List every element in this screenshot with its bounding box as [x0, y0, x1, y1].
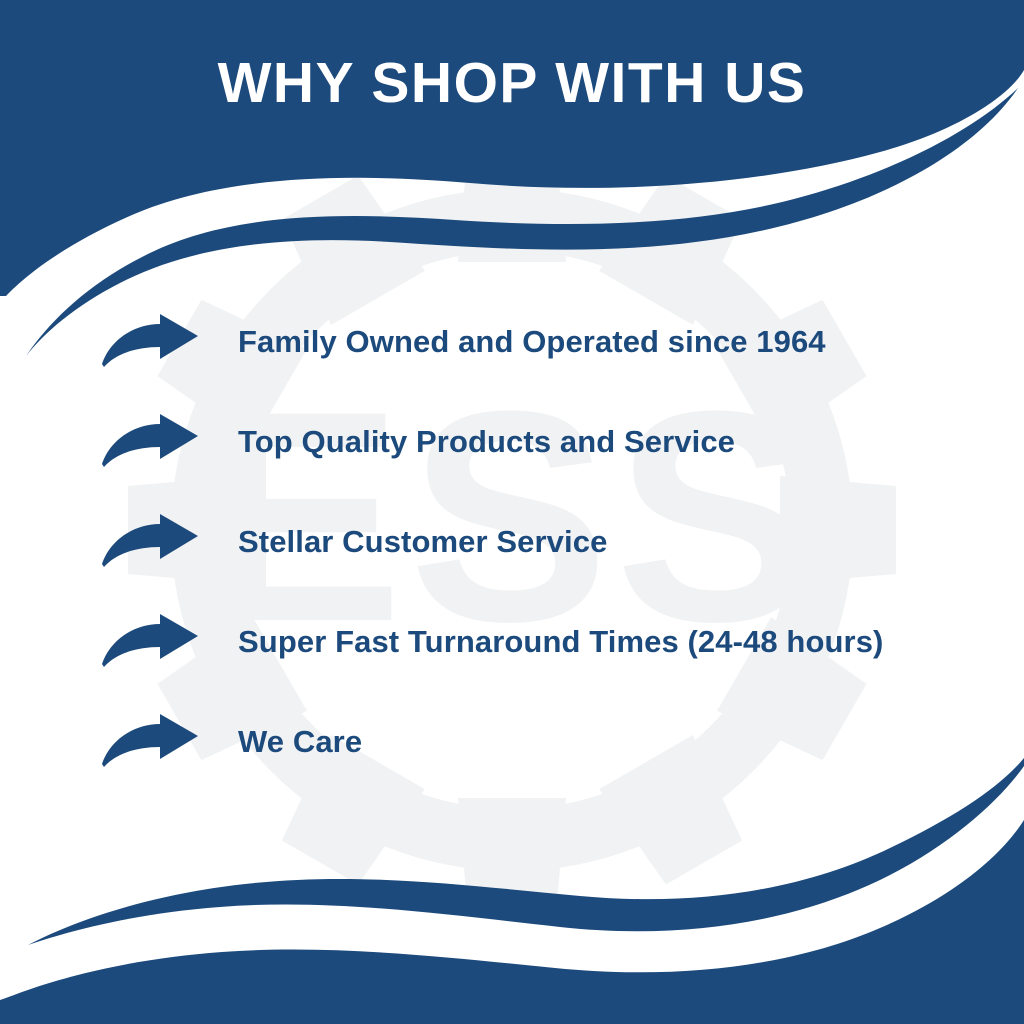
curved-arrow-right-icon [100, 314, 200, 370]
top-navy-band [0, 0, 1024, 296]
list-item: Top Quality Products and Service [100, 392, 1000, 492]
benefits-list: Family Owned and Operated since 1964 Top… [100, 292, 1000, 792]
curved-arrow-right-icon [100, 414, 200, 470]
list-item: We Care [100, 692, 1000, 792]
list-item-label: Top Quality Products and Service [238, 424, 1000, 460]
list-item: Super Fast Turnaround Times (24-48 hours… [100, 592, 1000, 692]
bottom-navy-band [0, 820, 1024, 1024]
curved-arrow-right-icon [100, 714, 200, 770]
list-item: Family Owned and Operated since 1964 [100, 292, 1000, 392]
page-title: WHY SHOP WITH US [0, 54, 1024, 114]
list-item-label: Super Fast Turnaround Times (24-48 hours… [238, 624, 1000, 660]
curved-arrow-right-icon [100, 614, 200, 670]
list-item-label: Stellar Customer Service [238, 524, 1000, 560]
curved-arrow-right-icon [100, 514, 200, 570]
list-item-label: We Care [238, 724, 1000, 760]
list-item: Stellar Customer Service [100, 492, 1000, 592]
why-shop-with-us-banner: ESS WHY SHOP WITH US Family Owned and Op… [0, 0, 1024, 1024]
list-item-label: Family Owned and Operated since 1964 [238, 324, 1000, 360]
